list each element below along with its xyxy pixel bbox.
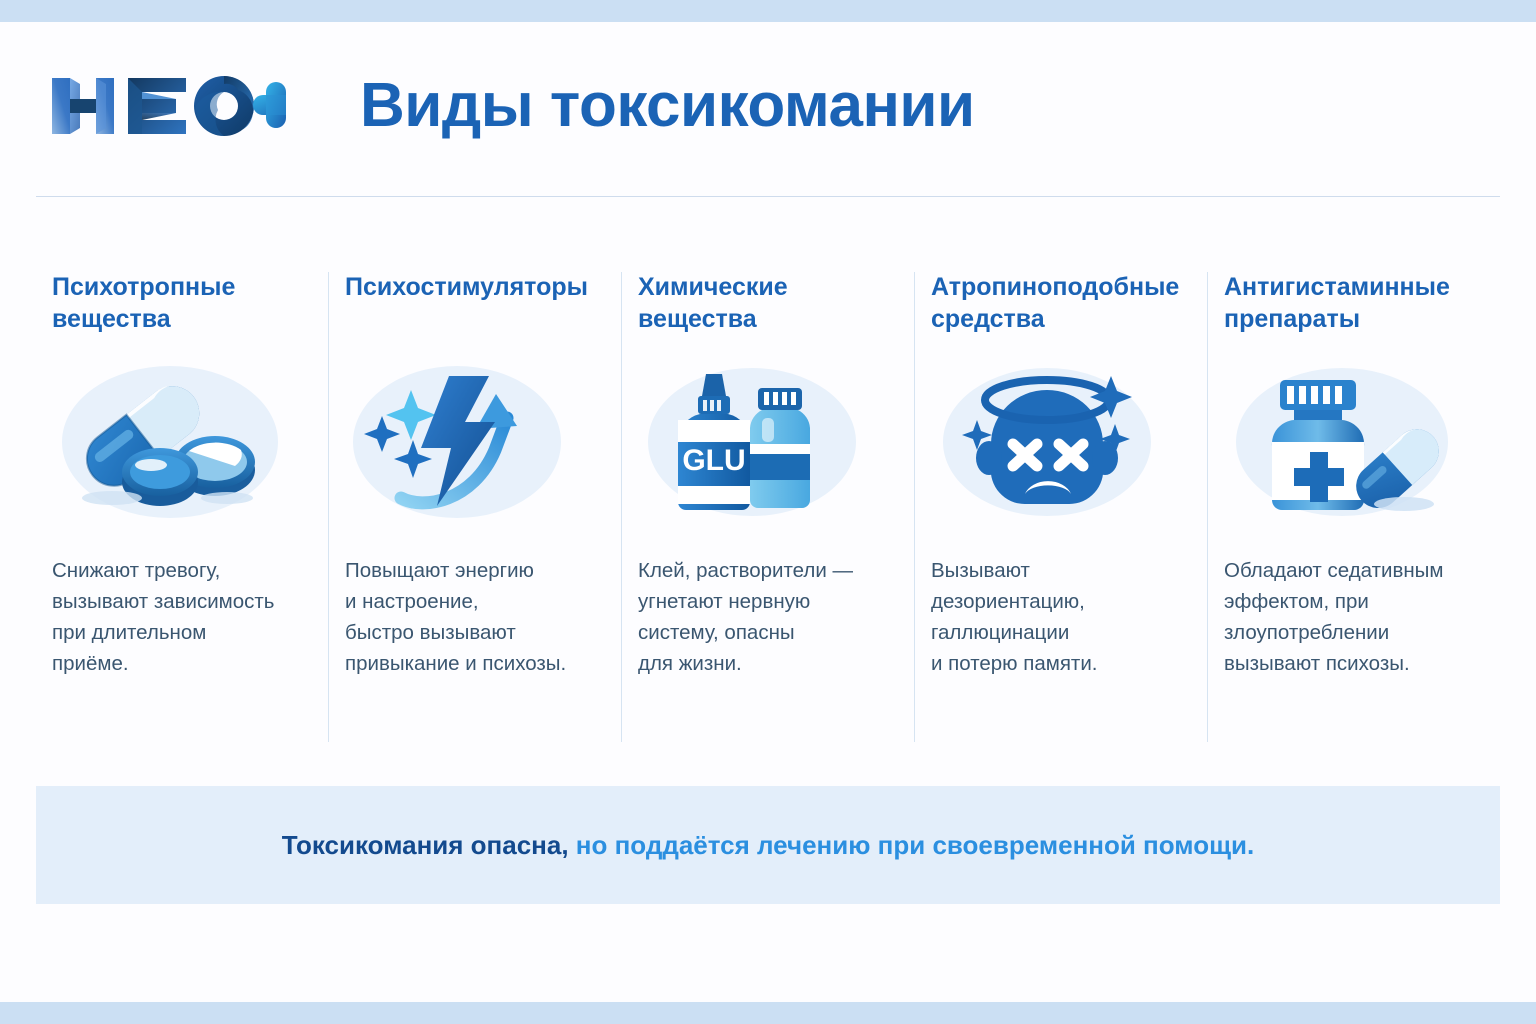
- top-accent-band: [0, 0, 1536, 22]
- category-description: Клей, растворители — угнетают нервную си…: [638, 555, 896, 680]
- category-description: Обладают седативным эффектом, при злоупо…: [1224, 555, 1482, 680]
- category-heading: Атропиноподобные средства: [931, 272, 1189, 336]
- header: Виды токсикомании: [0, 22, 1536, 190]
- category-column-chemicals: Химические вещества: [621, 272, 914, 742]
- category-column-antihistamines: Антигистаминные препараты: [1207, 272, 1500, 742]
- category-column-atropine: Атропиноподобные средства: [914, 272, 1207, 742]
- neo-plus-logo: [46, 68, 286, 144]
- glue-label: GLU: [682, 444, 745, 477]
- glue-solvent-bottles-icon: GLU: [632, 354, 896, 529]
- pills-capsule-icon: [46, 354, 310, 529]
- category-heading: Антигистаминные препараты: [1224, 272, 1482, 336]
- infographic-page: Виды токсикомании Психотропные вещества: [0, 0, 1536, 1024]
- category-heading: Психотропные вещества: [52, 272, 310, 336]
- category-description: Снижают тревогу, вызывают зависимость пр…: [52, 555, 310, 680]
- category-column-stimulants: Психостимуляторы: [328, 272, 621, 742]
- footer-message-rest: но поддаётся лечению при своевременной п…: [569, 830, 1255, 860]
- footer-message: Токсикомания опасна, но поддаётся лечени…: [282, 830, 1254, 861]
- category-description: Вызывают дезориентацию, галлюцинации и п…: [931, 555, 1189, 680]
- categories-row: Психотропные вещества: [36, 272, 1500, 742]
- category-description: Повыщают энергию и настроение, быстро вы…: [345, 555, 603, 680]
- pill-bottle-capsule-icon: [1218, 354, 1482, 529]
- category-heading: Химические вещества: [638, 272, 896, 336]
- lightning-bolt-arrow-icon: [339, 354, 603, 529]
- footer-banner: Токсикомания опасна, но поддаётся лечени…: [36, 786, 1500, 904]
- category-heading: Психостимуляторы: [345, 272, 603, 336]
- header-divider: [36, 196, 1500, 197]
- bottom-accent-band: [0, 1002, 1536, 1024]
- dizzy-face-icon: [925, 354, 1189, 529]
- category-column-psychotropic: Психотропные вещества: [36, 272, 328, 742]
- page-title: Виды токсикомании: [360, 75, 975, 137]
- footer-message-strong: Токсикомания опасна,: [282, 830, 569, 860]
